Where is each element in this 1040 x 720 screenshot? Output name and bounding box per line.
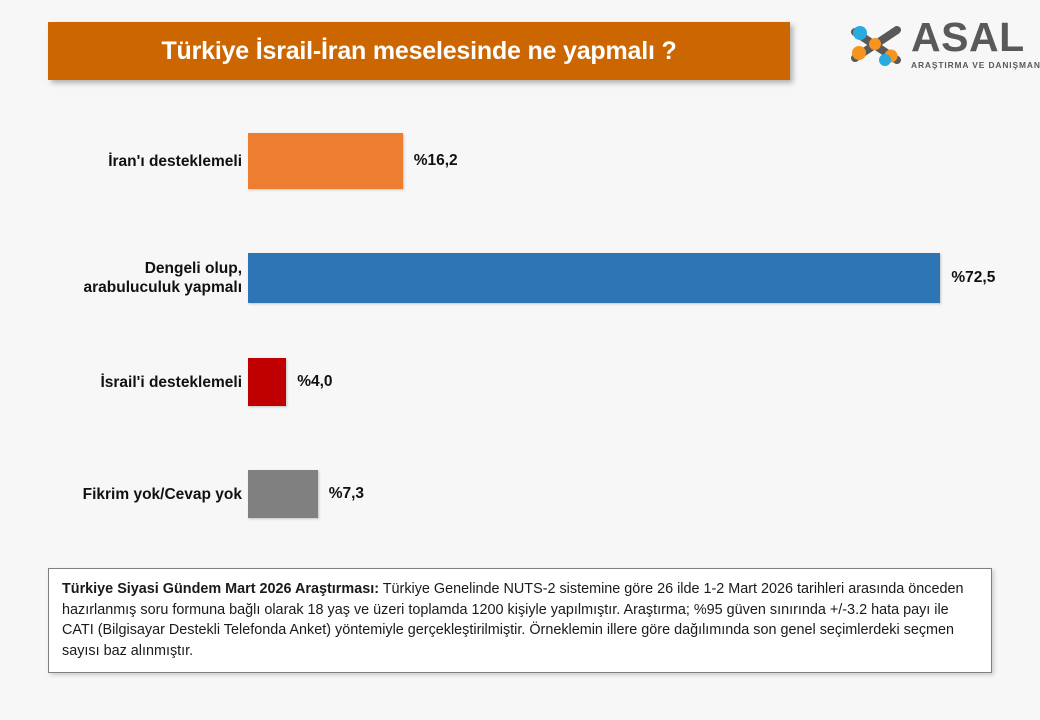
bar-category-label: İran'ı desteklemeli	[12, 152, 242, 171]
bar-track: %72,5	[248, 253, 995, 303]
header: Türkiye İsrail-İran meselesinde ne yapma…	[0, 0, 1040, 100]
logo-text: ASAL ARAŞTIRMA VE DANIŞMANLIK	[911, 15, 1029, 71]
bar-category-label: İsrail'i desteklemeli	[12, 373, 242, 392]
bar-value-label: %16,2	[414, 152, 458, 170]
bar-category-label: Dengeli olup,arabuluculuk yapmalı	[12, 259, 242, 297]
bar-row: İsrail'i desteklemeli%4,0	[0, 358, 1040, 406]
bar-category-label-line2: arabuluculuk yapmalı	[12, 278, 242, 297]
bar	[248, 358, 286, 406]
bar-row: Fikrim yok/Cevap yok%7,3	[0, 470, 1040, 518]
bar	[248, 133, 403, 189]
logo-wordmark: ASAL	[911, 15, 1029, 59]
methodology-note: Türkiye Siyasi Gündem Mart 2026 Araştırm…	[48, 568, 992, 673]
logo-tagline: ARAŞTIRMA VE DANIŞMANLIK	[911, 60, 1029, 71]
bar-value-label: %7,3	[329, 485, 364, 503]
logo-mark-icon	[845, 20, 909, 70]
bar-chart: İran'ı desteklemeli%16,2Dengeli olup,ara…	[0, 100, 1040, 550]
bar-category-label: Fikrim yok/Cevap yok	[12, 485, 242, 504]
bar	[248, 253, 940, 303]
bar-track: %16,2	[248, 133, 458, 189]
page-title-bar: Türkiye İsrail-İran meselesinde ne yapma…	[48, 22, 790, 80]
bar-category-label-line1: Dengeli olup,	[12, 259, 242, 278]
asal-logo: ASAL ARAŞTIRMA VE DANIŞMANLIK	[845, 15, 1030, 85]
methodology-note-lead: Türkiye Siyasi Gündem Mart 2026 Araştırm…	[62, 581, 379, 597]
bar-track: %4,0	[248, 358, 333, 406]
bar-row: Dengeli olup,arabuluculuk yapmalı%72,5	[0, 243, 1040, 313]
bar-row: İran'ı desteklemeli%16,2	[0, 133, 1040, 189]
bar-value-label: %72,5	[951, 269, 995, 287]
bar	[248, 470, 318, 518]
page-title: Türkiye İsrail-İran meselesinde ne yapma…	[161, 37, 676, 66]
bar-track: %7,3	[248, 470, 364, 518]
bar-value-label: %4,0	[297, 373, 332, 391]
